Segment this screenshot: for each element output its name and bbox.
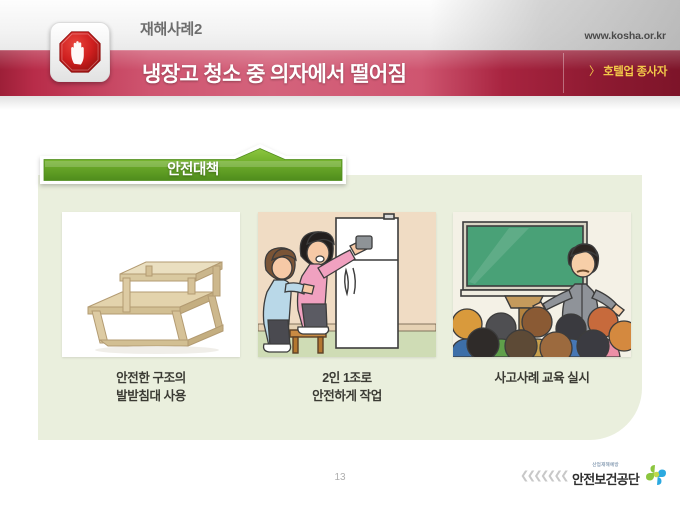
classroom-safety-training-illustration — [453, 212, 631, 357]
caption-line-1: 안전한 구조의 — [116, 371, 186, 385]
audience-text: 호텔업 종사자 — [603, 66, 667, 78]
kosha-logo: ❮❮❮❮❮❮❮ 산업재해예방 안전보건공단 — [520, 458, 668, 492]
measure-card[interactable]: 2인 1조로 안전하게 작업 — [258, 212, 436, 405]
logo-chevrons-icon: ❮❮❮❮❮❮❮ — [520, 469, 567, 482]
measures-card-list: 안전한 구조의 발받침대 사용 — [38, 212, 642, 412]
caption-line-1: 2인 1조로 — [322, 371, 371, 385]
slide-header: 재해사례2 냉장고 청소 중 의자에서 떨어짐 www.kosha.or.kr … — [0, 0, 680, 110]
chevron-right-icon: 〉 — [589, 66, 600, 78]
caption-line-2: 안전하게 작업 — [258, 387, 436, 405]
page-title: 냉장고 청소 중 의자에서 떨어짐 — [142, 58, 406, 88]
stop-hand-icon — [50, 22, 110, 82]
logo-subtitle: 산업재해예방 — [592, 462, 619, 468]
stop-octagon-icon — [59, 31, 101, 73]
band-divider — [563, 53, 564, 93]
header-shadow — [0, 96, 680, 110]
measure-card-caption: 안전한 구조의 발받침대 사용 — [62, 369, 240, 405]
presentation-slide: 재해사례2 냉장고 청소 중 의자에서 떨어짐 www.kosha.or.kr … — [0, 0, 680, 510]
logo-title: 안전보건공단 — [572, 469, 639, 488]
site-url[interactable]: www.kosha.or.kr — [584, 30, 666, 42]
case-label: 재해사례2 — [140, 18, 202, 39]
section-banner: 안전대책 — [38, 142, 348, 186]
caption-line-1: 사고사례 교육 실시 — [495, 371, 590, 385]
measure-card-caption: 2인 1조로 안전하게 작업 — [258, 369, 436, 405]
audience-label: 〉호텔업 종사자 — [589, 63, 667, 79]
measure-card[interactable]: 안전한 구조의 발받침대 사용 — [62, 212, 240, 405]
wooden-step-stool-photo — [62, 212, 240, 357]
measure-card[interactable]: 사고사례 교육 실시 — [453, 212, 631, 387]
kosha-pinwheel-logo-icon — [644, 463, 668, 487]
logo-text: 산업재해예방 안전보건공단 — [572, 462, 639, 488]
caption-line-2: 발받침대 사용 — [62, 387, 240, 405]
measure-card-caption: 사고사례 교육 실시 — [453, 369, 631, 387]
two-person-refrigerator-cleaning-illustration — [258, 212, 436, 357]
header-top-shade — [430, 0, 680, 56]
